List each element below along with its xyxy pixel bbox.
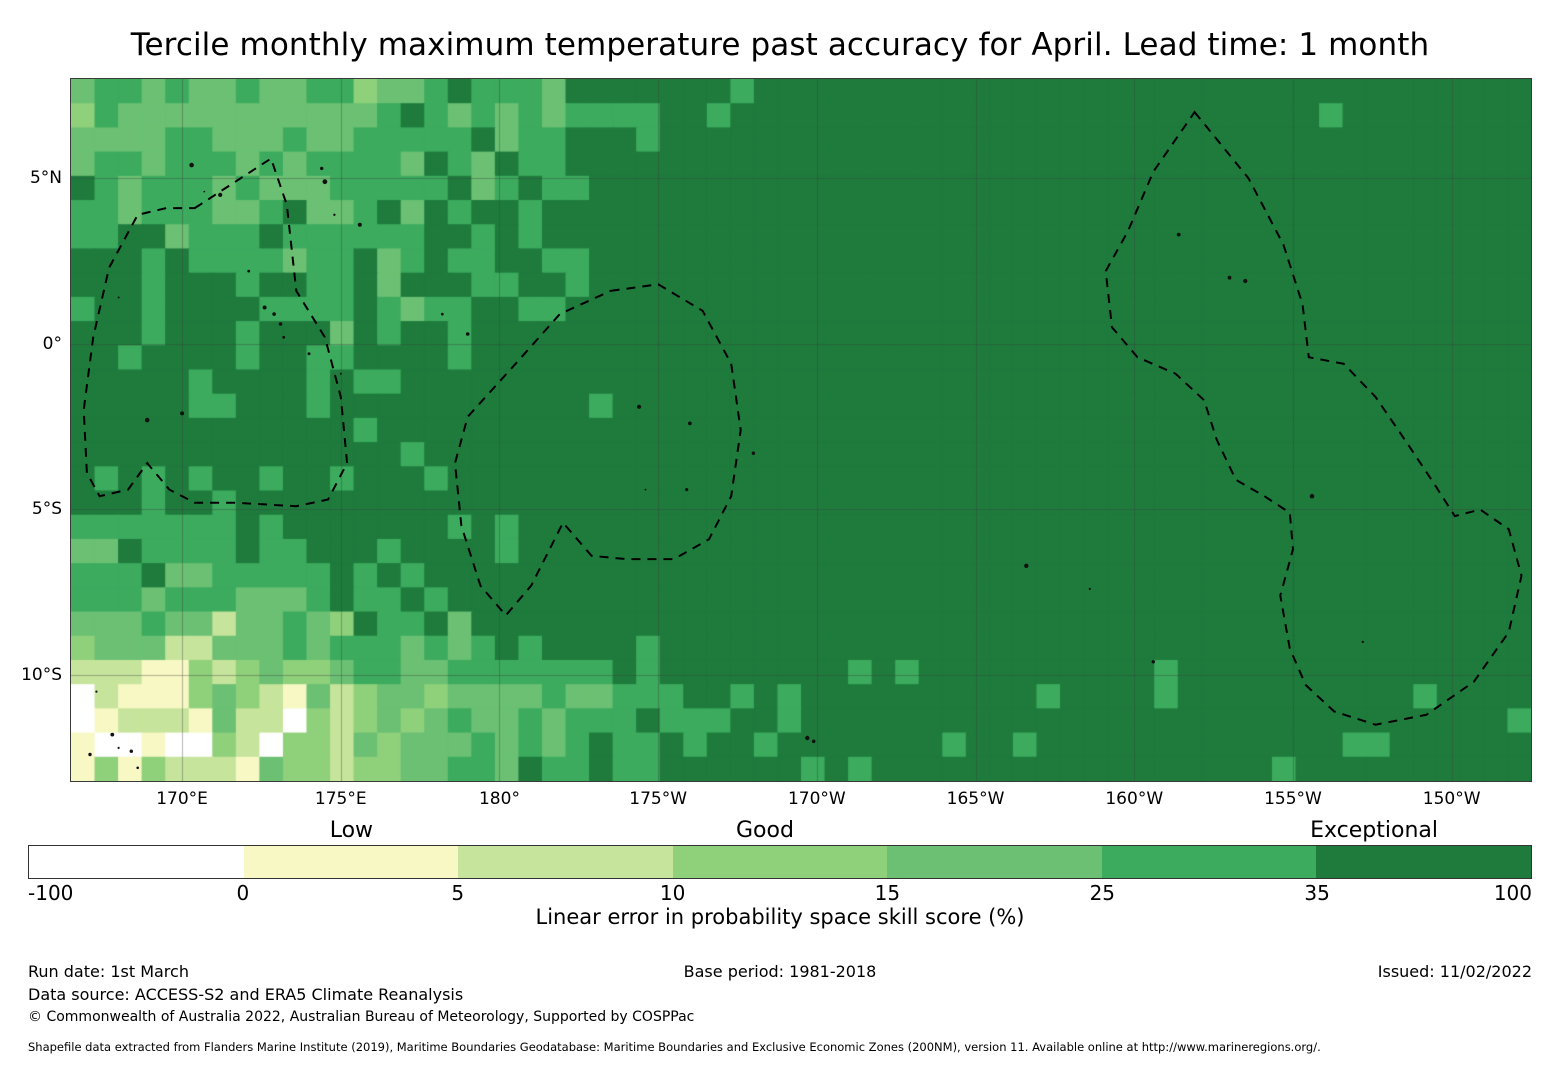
island-marker-37 (88, 753, 91, 756)
island-marker-16 (180, 411, 184, 415)
colorbar-gradient (28, 845, 1532, 879)
island-marker-34 (118, 747, 120, 749)
x-tick-label-8: 150°W (1423, 789, 1481, 809)
eez-boundary-east (1106, 112, 1522, 725)
eez-boundary-west (84, 159, 347, 507)
colorbar-segment-15-25 (887, 846, 1102, 878)
colorbar-category-low: Low (330, 818, 373, 843)
island-marker-0 (189, 163, 194, 168)
island-marker-32 (95, 691, 97, 693)
colorbar-axis-label: Linear error in probability space skill … (0, 905, 1560, 929)
island-marker-31 (812, 740, 816, 744)
issued-date-text: Issued: 11/02/2022 (1378, 962, 1532, 981)
colorbar-tick-15: 15 (875, 881, 900, 905)
island-marker-36 (136, 767, 139, 770)
x-tick-label-6: 160°W (1105, 789, 1163, 809)
colorbar-segment--100-0 (29, 846, 244, 878)
colorbar-segment-10-15 (673, 846, 887, 878)
x-tick-label-3: 175°W (629, 789, 687, 809)
y-tick-label-3: 10°S (0, 665, 62, 685)
island-marker-4 (323, 179, 328, 184)
island-marker-1 (203, 191, 205, 193)
island-marker-35 (130, 750, 133, 753)
island-marker-9 (272, 312, 276, 316)
island-marker-14 (118, 297, 120, 299)
island-marker-27 (1310, 494, 1315, 499)
island-marker-10 (279, 322, 283, 326)
y-tick-label-2: 5°S (0, 499, 62, 519)
island-marker-5 (333, 214, 335, 216)
island-marker-12 (308, 352, 311, 355)
colorbar-segment-5-10 (458, 846, 673, 878)
colorbar-tick-10: 10 (660, 881, 685, 905)
island-marker-30 (805, 736, 809, 740)
x-tick-label-1: 175°E (315, 789, 367, 809)
island-marker-21 (645, 489, 647, 491)
colorbar (28, 845, 1532, 879)
island-marker-18 (466, 332, 470, 336)
island-marker-26 (1243, 279, 1247, 283)
y-tick-label-0: 5°N (0, 168, 62, 188)
island-marker-17 (441, 313, 444, 316)
page-title: Tercile monthly maximum temperature past… (0, 26, 1560, 64)
y-tick-label-1: 0° (0, 334, 62, 354)
x-tick-label-5: 165°W (947, 789, 1005, 809)
colorbar-segment-35-100 (1316, 846, 1531, 878)
island-marker-33 (110, 733, 114, 737)
island-marker-15 (145, 418, 150, 423)
island-marker-8 (263, 306, 267, 310)
island-marker-38 (1024, 564, 1028, 568)
island-marker-20 (688, 422, 692, 426)
island-marker-22 (685, 488, 688, 491)
island-marker-11 (282, 336, 285, 339)
colorbar-tick-100: 100 (1494, 881, 1532, 905)
colorbar-segment-25-35 (1102, 846, 1316, 878)
map-plot-area (70, 78, 1532, 782)
colorbar-segment-0-5 (244, 846, 458, 878)
colorbar-tick-0: 0 (237, 881, 250, 905)
colorbar-tick--100: -100 (28, 881, 73, 905)
x-tick-label-4: 170°W (788, 789, 846, 809)
island-marker-7 (247, 270, 250, 273)
island-marker-24 (1177, 233, 1181, 237)
copyright-text: © Commonwealth of Australia 2022, Austra… (28, 1006, 694, 1029)
island-marker-19 (637, 405, 641, 409)
island-marker-39 (1089, 588, 1091, 590)
island-marker-3 (320, 167, 323, 170)
x-tick-label-7: 155°W (1264, 789, 1322, 809)
eez-boundary-central (455, 284, 741, 615)
data-source-text: Data source: ACCESS-S2 and ERA5 Climate … (28, 983, 694, 1006)
x-tick-label-2: 180° (479, 789, 520, 809)
colorbar-tick-25: 25 (1090, 881, 1115, 905)
island-marker-28 (1362, 641, 1364, 643)
island-marker-6 (358, 223, 362, 227)
shapefile-attribution-text: Shapefile data extracted from Flanders M… (28, 1040, 1321, 1054)
eez-boundary-overlay (71, 79, 1531, 781)
base-period-text: Base period: 1981-2018 (0, 962, 1560, 981)
island-marker-29 (1152, 660, 1155, 663)
colorbar-category-good: Good (736, 818, 794, 843)
island-marker-25 (1228, 276, 1232, 280)
colorbar-category-exceptional: Exceptional (1310, 818, 1438, 843)
island-marker-2 (218, 193, 222, 197)
island-marker-13 (340, 373, 342, 375)
colorbar-tick-5: 5 (451, 881, 464, 905)
colorbar-tick-35: 35 (1304, 881, 1329, 905)
island-marker-23 (752, 452, 755, 455)
x-tick-label-0: 170°E (156, 789, 208, 809)
